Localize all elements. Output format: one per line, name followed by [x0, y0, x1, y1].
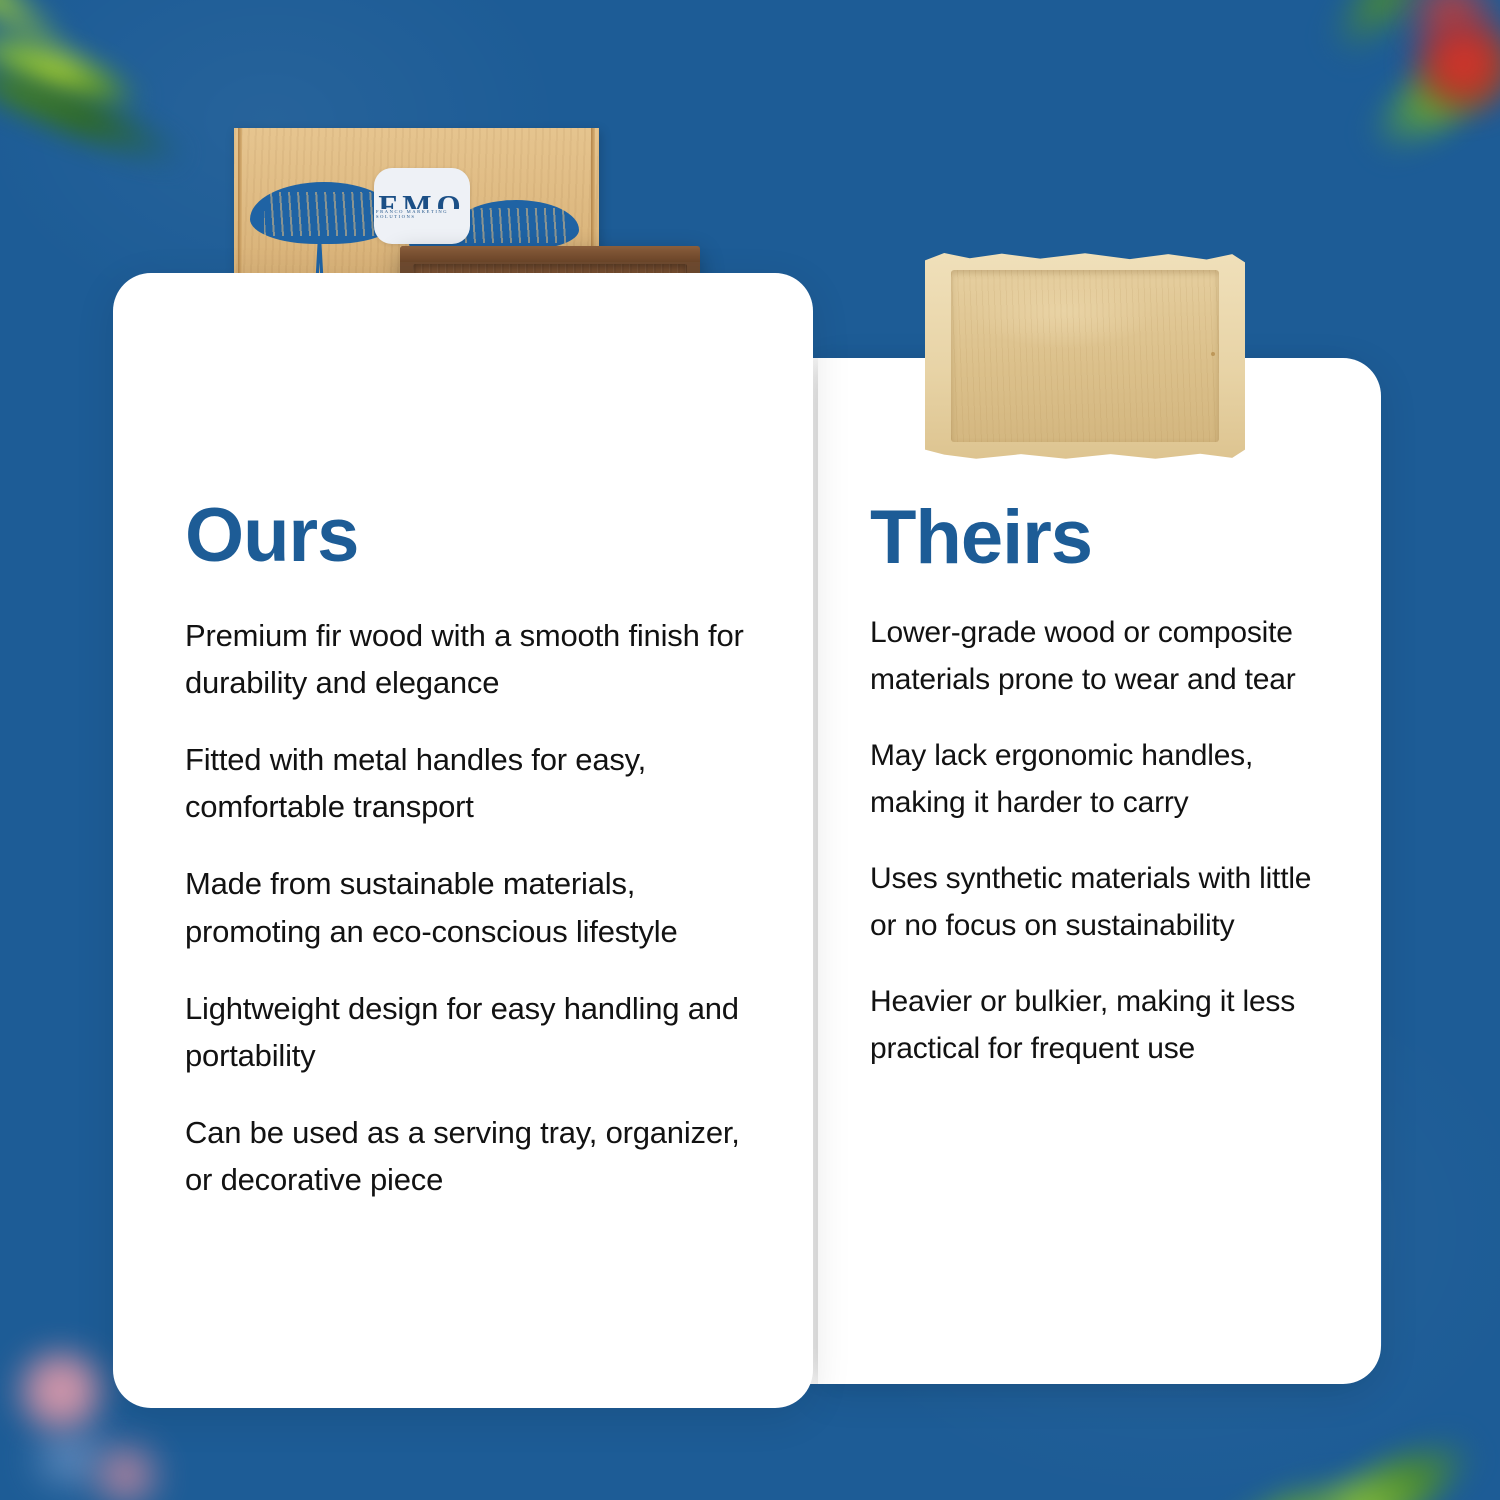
tray-frame — [925, 252, 1245, 460]
ours-column: Ours Premium fir wood with a smooth fini… — [185, 498, 775, 1203]
ours-bullet-4: Lightweight design for easy handling and… — [185, 985, 775, 1079]
ours-bullet-5: Can be used as a serving tray, organizer… — [185, 1109, 775, 1203]
tray-well — [951, 270, 1219, 442]
theirs-product-image — [925, 252, 1245, 460]
comparison-infographic: EXCELLE SLEEK WOO FMO FRANCO MARKETING S… — [0, 0, 1500, 1500]
brand-logo-badge: FMO FRANCO MARKETING SOLUTIONS — [374, 168, 470, 244]
wood-knot-icon — [1211, 352, 1215, 356]
theirs-bullet-2: May lack ergonomic handles, making it ha… — [870, 733, 1340, 826]
theirs-heading: Theirs — [870, 500, 1340, 576]
theirs-column: Theirs Lower-grade wood or composite mat… — [870, 500, 1340, 1072]
ours-heading: Ours — [185, 498, 775, 574]
brand-logo-subtitle: FRANCO MARKETING SOLUTIONS — [374, 209, 470, 219]
ours-bullet-2: Fitted with metal handles for easy, comf… — [185, 736, 775, 830]
theirs-bullet-1: Lower-grade wood or composite materials … — [870, 610, 1340, 703]
theirs-bullet-3: Uses synthetic materials with little or … — [870, 856, 1340, 949]
theirs-bullet-4: Heavier or bulkier, making it less pract… — [870, 979, 1340, 1072]
ours-bullet-3: Made from sustainable materials, promoti… — [185, 860, 775, 954]
flower-decoration-icon — [6, 1348, 116, 1434]
ours-bullet-1: Premium fir wood with a smooth finish fo… — [185, 612, 775, 706]
tray-lip — [400, 246, 700, 262]
